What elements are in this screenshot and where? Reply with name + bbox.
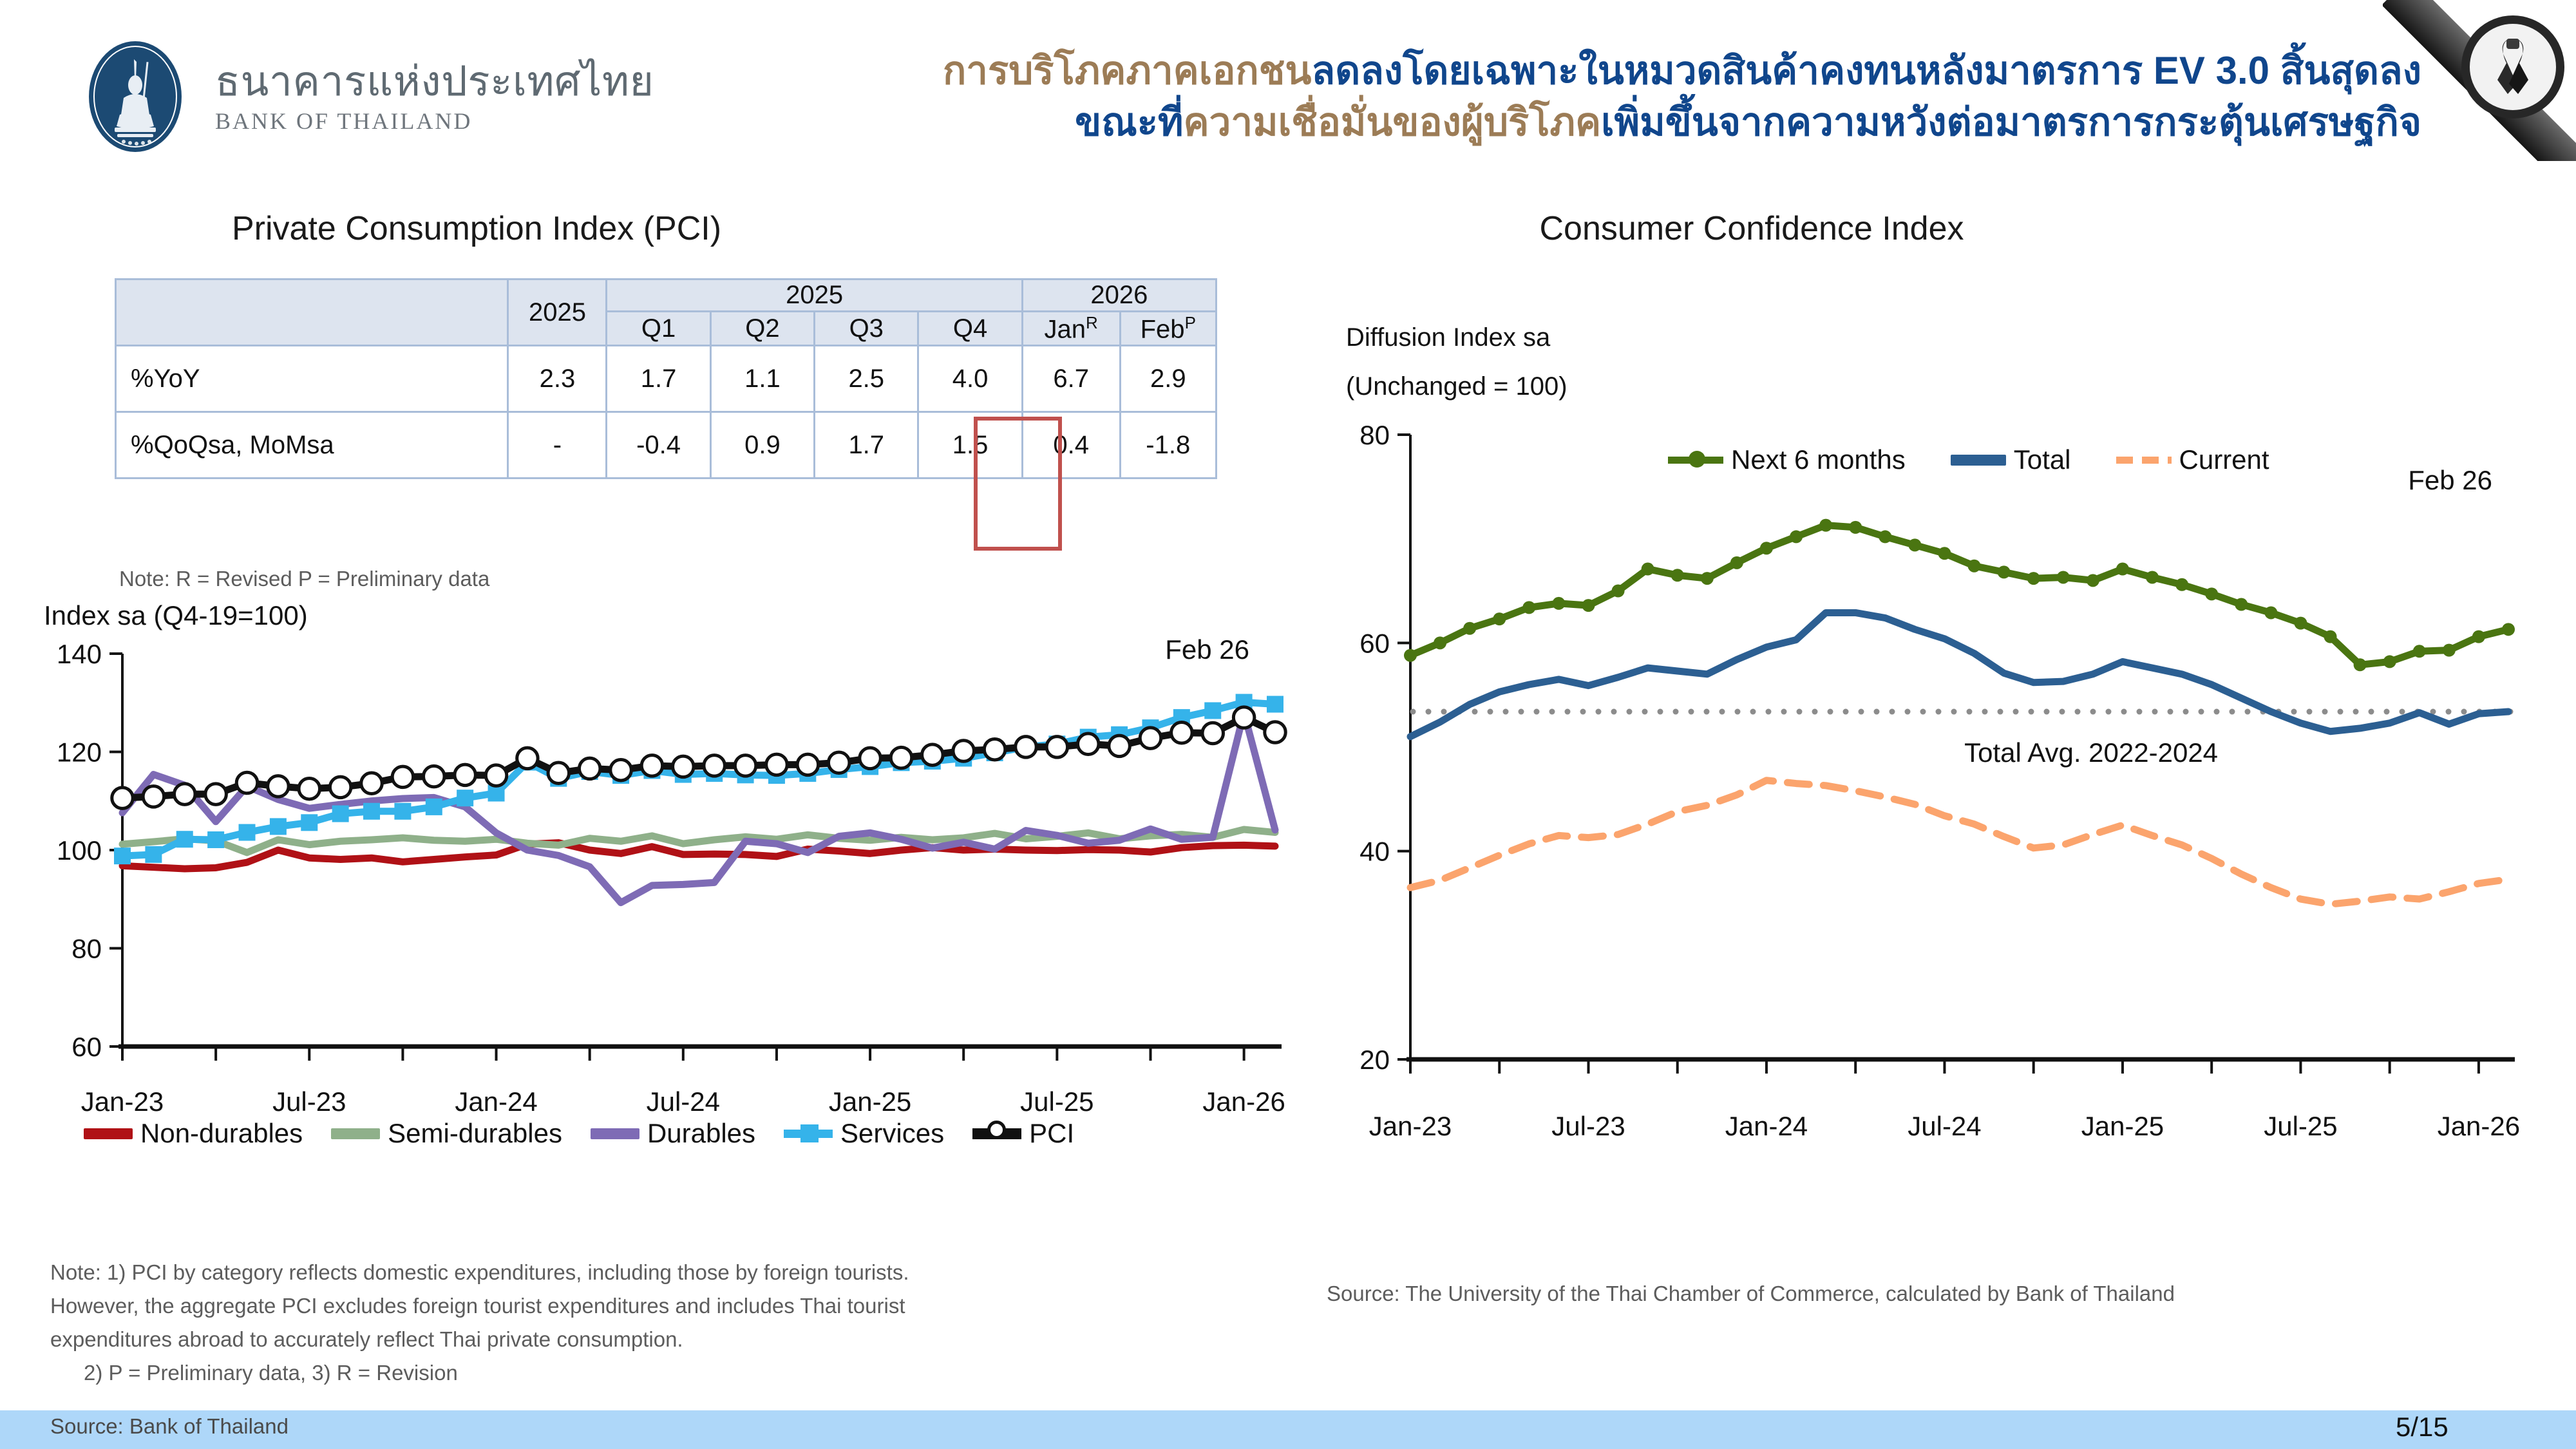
pci-note-line-2: However, the aggregate PCI excludes fore… [50,1289,1261,1323]
x-tick-label: Jan-26 [1202,1086,1285,1117]
cci-panel-title: Consumer Confidence Index [1404,209,2099,248]
headline-line2-blue-a: ขณะที่ [1075,100,1183,144]
headline-line1-brown: การบริโภคภาคเอกชน [943,49,1311,92]
yoy-q3: 2.5 [815,346,918,412]
pci-note-line-1: Note: 1) PCI by category reflects domest… [50,1256,1261,1289]
qoq-jan: 0.4 [1022,412,1120,478]
cci-source: Source: The University of the Thai Chamb… [1327,1282,2175,1306]
pci-note-line-4: 2) P = Preliminary data, 3) R = Revision [50,1356,1261,1390]
header-annual-2025: 2025 [508,279,607,346]
qoq-q3: 1.7 [815,412,918,478]
series-line-total [1410,612,2508,736]
pci-summary-table: 2025 2025 2026 Q1 Q2 Q3 Q4 JanR FebP %Yo… [115,278,1217,479]
legend-item-services: Services [784,1118,944,1149]
last-point-annotation: Feb 26 [1165,634,1249,665]
header-jan-sup: R [1086,313,1098,332]
qoq-q1: -0.4 [607,412,710,478]
series-line-pci [122,717,1275,798]
yoy-q1: 1.7 [607,346,710,412]
y-tick-label: 140 [57,639,102,669]
header-q3: Q3 [815,312,918,346]
header-feb: FebP [1120,312,1216,346]
pci-y-axis-caption: Index sa (Q4-19=100) [44,600,308,631]
y-tick-label: 100 [57,835,102,866]
legend-swatch-non-durables [84,1128,133,1139]
header-group-2026: 2026 [1022,279,1216,312]
x-tick-label: Jan-24 [1725,1111,1808,1141]
header-q1: Q1 [607,312,710,346]
legend-swatch-durables [591,1128,639,1139]
legend-swatch-pci [972,1128,1021,1139]
pci-line-chart: 6080100120140Jan-23Jul-23Jan-24Jul-24Jan… [39,628,1301,1137]
legend-item-non-durables: Non-durables [84,1118,303,1149]
row-label-yoy: %YoY [116,346,508,412]
legend-label-total: Total [2014,444,2071,475]
x-tick-label: Jan-25 [829,1086,911,1117]
series-line-current [1410,781,2508,904]
yoy-jan: 6.7 [1022,346,1120,412]
x-tick-label: Jan-23 [81,1086,164,1117]
cci-y-axis-caption-1: Diffusion Index sa [1346,323,1550,352]
qoq-feb: -1.8 [1120,412,1216,478]
header-group-2025: 2025 [607,279,1022,312]
x-tick-label: Jan-26 [2438,1111,2520,1141]
reference-line-label: Total Avg. 2022-2024 [1964,737,2218,768]
pci-panel-title: Private Consumption Index (PCI) [155,209,799,248]
legend-swatch-next-6-months [1668,457,1723,464]
qoq-q2: 0.9 [710,412,814,478]
page-number: 5/15 [2396,1412,2448,1443]
y-tick-label: 80 [1359,420,1390,450]
x-tick-label: Jan-23 [1369,1111,1452,1141]
pci-note-line-3: expenditures abroad to accurately reflec… [50,1323,1261,1356]
legend-item-semi-durables: Semi-durables [331,1118,562,1149]
cci-legend: Next 6 months Total Current [1668,444,2308,475]
legend-label-current: Current [2179,444,2269,475]
legend-item-durables: Durables [591,1118,755,1149]
headline-line2-brown: ความเชื่อมั่นของผู้บริโภค [1184,100,1602,144]
footer-bar [0,1410,2576,1449]
x-tick-label: Jul-25 [2264,1111,2337,1141]
bank-name-thai: ธนาคารแห่งประเทศไทย [215,59,654,104]
footer-source: Source: Bank of Thailand [50,1414,289,1439]
legend-item-pci: PCI [972,1118,1074,1149]
cci-line-chart: 20406080Jan-23Jul-23Jan-24Jul-24Jan-25Ju… [1320,406,2544,1172]
x-tick-label: Jul-23 [272,1086,346,1117]
legend-label-pci: PCI [1029,1118,1074,1149]
yoy-annual: 2.3 [508,346,607,412]
legend-label-non-durables: Non-durables [140,1118,303,1149]
table-note: Note: R = Revised P = Preliminary data [119,567,489,591]
headline-line1-blue: ลดลงโดยเฉพาะในหมวดสินค้าคงทนหลังมาตรการ … [1311,49,2421,92]
y-tick-label: 80 [71,934,102,964]
table-row: %QoQsa, MoMsa - -0.4 0.9 1.7 1.5 0.4 -1.… [116,412,1217,478]
legend-label-durables: Durables [647,1118,755,1149]
table-row: %YoY 2.3 1.7 1.1 2.5 4.0 6.7 2.9 [116,346,1217,412]
header-q4: Q4 [918,312,1022,346]
legend-label-services: Services [840,1118,944,1149]
bot-logo-block: ธนาคารแห่งประเทศไทย BANK OF THAILAND [77,32,689,161]
x-tick-label: Jul-25 [1020,1086,1094,1117]
table-corner-cell [116,279,508,346]
cci-y-axis-caption-2: (Unchanged = 100) [1346,372,1567,401]
yoy-q2: 1.1 [710,346,814,412]
legend-swatch-current [2116,457,2172,464]
bank-name-english: BANK OF THAILAND [215,108,654,135]
x-tick-label: Jul-23 [1551,1111,1625,1141]
legend-item-next-6-months: Next 6 months [1668,444,1906,475]
y-tick-label: 120 [57,737,102,768]
series-line-non-durables [122,843,1275,869]
bank-of-thailand-seal-icon [77,39,193,155]
black-mourning-ribbon-icon [2481,33,2545,104]
table-header-row-1: 2025 2025 2026 [116,279,1217,312]
pci-legend: Non-durables Semi-durables Durables Serv… [84,1118,1096,1149]
y-tick-label: 60 [1359,628,1390,658]
y-tick-label: 40 [1359,837,1390,867]
legend-swatch-services [784,1130,833,1138]
legend-item-current: Current [2116,444,2269,475]
headline-line2-blue-b: เพิ่มขึ้นจากความหวังต่อมาตรการกระตุ้นเศร… [1601,100,2421,144]
row-label-qoq: %QoQsa, MoMsa [116,412,508,478]
x-tick-label: Jan-25 [2081,1111,2164,1141]
header-jan-text: Jan [1045,315,1086,343]
x-tick-label: Jul-24 [1908,1111,1981,1141]
yoy-q4: 4.0 [918,346,1022,412]
y-tick-label: 60 [71,1032,102,1062]
header-jan: JanR [1022,312,1120,346]
x-tick-label: Jan-24 [455,1086,537,1117]
header-feb-sup: P [1185,313,1196,332]
qoq-q4: 1.5 [918,412,1022,478]
legend-label-next-6-months: Next 6 months [1731,444,1906,475]
last-point-annotation: Feb 26 [2408,465,2492,495]
headline: การบริโภคภาคเอกชนลดลงโดยเฉพาะในหมวดสินค้… [824,45,2421,149]
qoq-annual: - [508,412,607,478]
legend-item-total: Total [1951,444,2071,475]
legend-swatch-semi-durables [331,1128,380,1139]
yoy-feb: 2.9 [1120,346,1216,412]
series-line-durables [122,713,1275,903]
x-tick-label: Jul-24 [647,1086,720,1117]
legend-swatch-total [1951,455,2006,466]
y-tick-label: 20 [1359,1045,1390,1075]
pci-notes: Note: 1) PCI by category reflects domest… [50,1256,1261,1390]
header-feb-text: Feb [1141,315,1185,343]
legend-label-semi-durables: Semi-durables [388,1118,562,1149]
header-q2: Q2 [710,312,814,346]
